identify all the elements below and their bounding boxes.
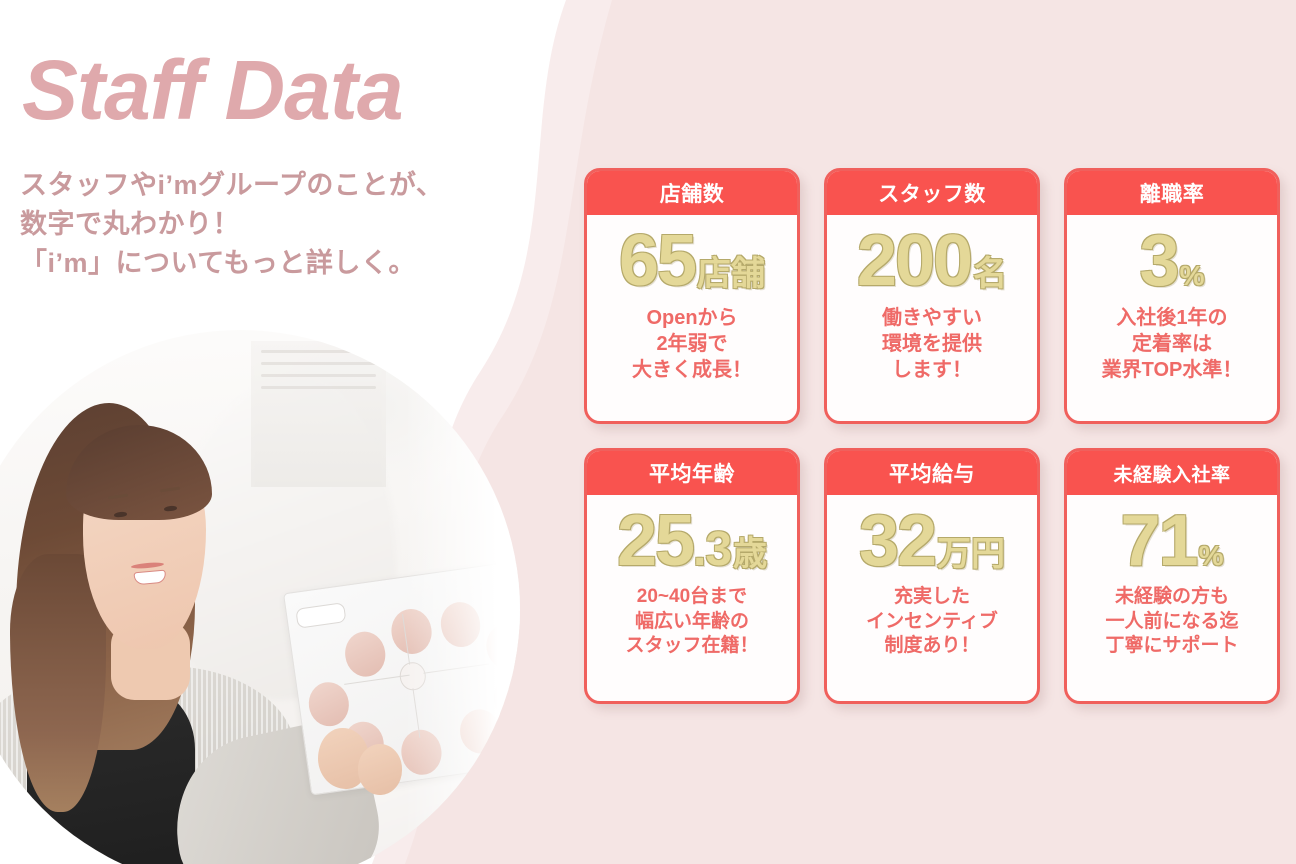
stat-caption: Openから 2年弱で 大きく成長！ bbox=[632, 305, 752, 383]
staff-photo bbox=[0, 330, 520, 864]
stat-card-header: 未経験入社率 bbox=[1067, 451, 1277, 495]
stat-fraction: .3 bbox=[693, 526, 731, 574]
stat-value: 25 bbox=[617, 505, 693, 577]
stat-metric: 71 % bbox=[1121, 505, 1224, 577]
stat-caption: 未経験の方も 一人前になる迄 丁寧にサポート bbox=[1105, 585, 1238, 659]
stat-card-stores: 店舗数 65 店舗 Openから 2年弱で 大きく成長！ bbox=[584, 168, 800, 424]
stat-card-turnover-rate: 離職率 3 % 入社後1年の 定着率は 業界TOP水準！ bbox=[1064, 168, 1280, 424]
stat-value: 65 bbox=[619, 225, 695, 297]
stat-metric: 200 名 bbox=[857, 225, 1007, 297]
stat-card-inexperienced-hire-rate: 未経験入社率 71 % 未経験の方も 一人前になる迄 丁寧にサポート bbox=[1064, 448, 1280, 704]
stat-card-header: スタッフ数 bbox=[827, 171, 1037, 215]
photo-board-chip bbox=[342, 630, 388, 679]
stat-unit: 万円 bbox=[937, 537, 1005, 571]
stat-value: 3 bbox=[1140, 225, 1178, 297]
page-title: Staff Data bbox=[22, 48, 403, 132]
stat-caption: 入社後1年の 定着率は 業界TOP水準！ bbox=[1102, 305, 1243, 383]
photo-board-tag bbox=[296, 603, 347, 630]
stat-card-header: 店舗数 bbox=[587, 171, 797, 215]
stat-card-body: 25 .3 歳 20~40台まで 幅広い年齢の スタッフ在籍！ bbox=[587, 495, 797, 701]
stat-card-staff-count: スタッフ数 200 名 働きやすい 環境を提供 します！ bbox=[824, 168, 1040, 424]
stat-card-body: 3 % 入社後1年の 定着率は 業界TOP水準！ bbox=[1067, 215, 1277, 421]
stat-card-header: 平均給与 bbox=[827, 451, 1037, 495]
stat-card-average-age: 平均年齢 25 .3 歳 20~40台まで 幅広い年齢の スタッフ在籍！ bbox=[584, 448, 800, 704]
stat-card-body: 65 店舗 Openから 2年弱で 大きく成長！ bbox=[587, 215, 797, 421]
photo-edge-fade bbox=[404, 330, 520, 864]
stat-value: 71 bbox=[1121, 505, 1197, 577]
stat-card-header: 平均年齢 bbox=[587, 451, 797, 495]
photo-window-shelf bbox=[251, 341, 385, 487]
stat-unit: 店舗 bbox=[697, 257, 765, 291]
stat-metric: 25 .3 歳 bbox=[617, 505, 767, 577]
photo-hand-second bbox=[358, 744, 403, 794]
page-subtitle: スタッフやi’mグループのことが、 数字で丸わかり！ 「i’m」についてもっと詳… bbox=[20, 166, 443, 283]
stat-card-body: 200 名 働きやすい 環境を提供 します！ bbox=[827, 215, 1037, 421]
stat-metric: 32 万円 bbox=[859, 505, 1005, 577]
stat-unit: 歳 bbox=[733, 537, 767, 571]
stat-value: 200 bbox=[857, 225, 971, 297]
stat-caption: 充実した インセンティブ 制度あり！ bbox=[866, 585, 998, 659]
stat-unit: % bbox=[1199, 542, 1224, 570]
stat-card-header: 離職率 bbox=[1067, 171, 1277, 215]
stat-caption: 20~40台まで 幅広い年齢の スタッフ在籍！ bbox=[625, 585, 758, 659]
staff-data-infographic: Staff Data スタッフやi’mグループのことが、 数字で丸わかり！ 「i… bbox=[0, 0, 1296, 864]
stat-unit: 名 bbox=[973, 257, 1007, 291]
stat-metric: 65 店舗 bbox=[619, 225, 765, 297]
stat-value: 32 bbox=[859, 505, 935, 577]
stat-card-average-salary: 平均給与 32 万円 充実した インセンティブ 制度あり！ bbox=[824, 448, 1040, 704]
stat-metric: 3 % bbox=[1140, 225, 1205, 297]
stat-unit: % bbox=[1180, 262, 1205, 290]
photo-board-chip bbox=[306, 680, 352, 729]
stat-card-body: 32 万円 充実した インセンティブ 制度あり！ bbox=[827, 495, 1037, 701]
stat-card-body: 71 % 未経験の方も 一人前になる迄 丁寧にサポート bbox=[1067, 495, 1277, 701]
stat-caption: 働きやすい 環境を提供 します！ bbox=[882, 305, 982, 383]
stats-card-grid: 店舗数 65 店舗 Openから 2年弱で 大きく成長！ スタッフ数 200 名… bbox=[584, 168, 1284, 704]
